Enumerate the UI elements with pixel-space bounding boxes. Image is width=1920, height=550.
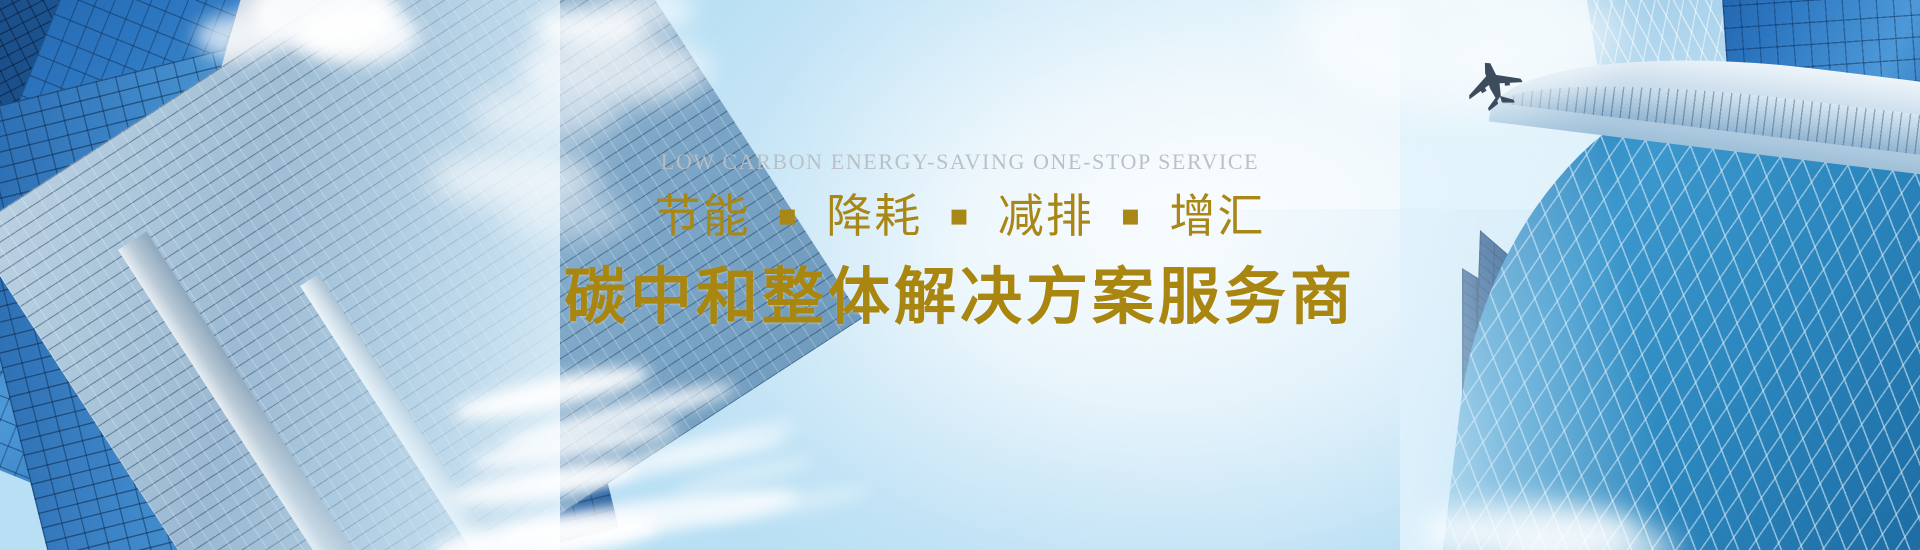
tagline-separator-1: ▪ (777, 197, 799, 235)
tagline-word-1: 节能 (655, 189, 751, 243)
banner-eyebrow-text: LOW CARBON ENERGY-SAVING ONE-STOP SERVIC… (0, 150, 1920, 174)
cloud-top-left-3 (196, 14, 284, 60)
hero-banner: LOW CARBON ENERGY-SAVING ONE-STOP SERVIC… (0, 0, 1920, 550)
tagline-separator-3: ▪ (1120, 197, 1142, 235)
banner-headline: 碳中和整体解决方案服务商 (0, 260, 1920, 334)
cloud-top-left-2 (300, 6, 418, 64)
tagline-word-4: 增汇 (1169, 189, 1265, 243)
banner-tagline: 节能 ▪ 降耗 ▪ 减排 ▪ 增汇 (0, 188, 1920, 246)
cloud-top-mid-2 (470, 88, 620, 140)
tagline-word-2: 降耗 (826, 189, 922, 243)
tagline-separator-2: ▪ (949, 197, 971, 235)
banner-copy: LOW CARBON ENERGY-SAVING ONE-STOP SERVIC… (0, 150, 1920, 334)
tagline-word-3: 减排 (998, 189, 1094, 243)
